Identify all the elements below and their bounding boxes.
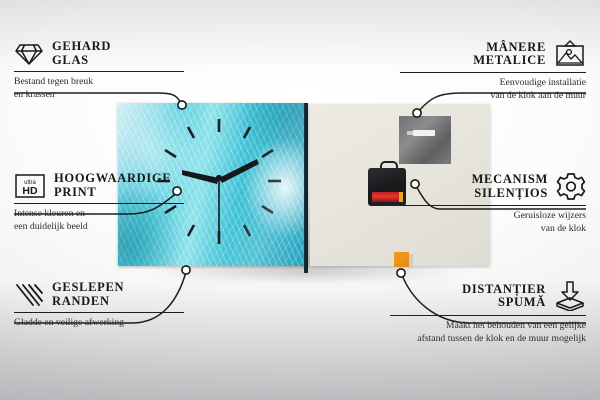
feature-title-edges: GESLEPEN RANDEN [52,281,124,308]
infographic-canvas: GEHARD GLAS Bestand tegen breuk en krass… [0,0,600,400]
beveled-edges-icon [14,282,44,308]
feature-title-print: HOOGWAARDIGE PRINT [54,172,171,199]
feature-title-handles: MÂNERE METALICE [473,41,546,68]
feature-callout-print: ultra HD HOOGWAARDIGE PRINT Intense kleu… [14,172,184,233]
metal-hanger-plate [399,116,451,164]
feature-rule-print [14,203,184,204]
feature-header-handles: MÂNERE METALICE [400,40,586,68]
feature-desc-handles: Eenvoudige installatie van de klok aan d… [400,77,586,102]
feature-rule-spacer [390,315,586,316]
wall-hanging-frame-icon [554,40,586,68]
feature-rule-handles [400,72,586,73]
foam-spacer-side [409,254,413,268]
foam-spacer-arrow-icon [554,281,586,311]
feature-callout-glass: GEHARD GLAS Bestand tegen breuk en krass… [14,40,184,101]
feature-callout-mechanism: MECANISM SILENȚIOS Geruisloze wijzers va… [400,172,586,235]
feature-callout-handles: MÂNERE METALICE Eenvoudige installatie v… [400,40,586,102]
feature-title-spacer: DISTANȚIER SPUMĂ [462,283,546,310]
gear-icon [556,172,586,201]
feature-title-mechanism: MECANISM SILENȚIOS [472,173,548,200]
feature-desc-glass: Bestand tegen breuk en krassen [14,76,184,101]
feature-header-print: ultra HD HOOGWAARDIGE PRINT [14,172,184,199]
foam-spacer-block [394,252,409,267]
feature-header-glass: GEHARD GLAS [14,40,184,67]
feature-header-edges: GESLEPEN RANDEN [14,281,184,308]
hanger-keyhole-slot [413,130,435,136]
feature-desc-edges: Gladde en veilige afwerking [14,317,184,329]
feature-desc-print: Intense kleuren en een duidelijk beeld [14,208,184,233]
feature-rule-glass [14,71,184,72]
ultra-hd-icon: ultra HD [14,173,46,199]
feature-rule-mechanism [400,205,586,206]
feature-rule-edges [14,312,184,313]
feature-callout-spacer: DISTANȚIER SPUMĂ Maakt het behouden van … [390,281,586,345]
feature-desc-spacer: Maakt het behouden van een gelijke afsta… [390,320,586,345]
feature-header-mechanism: MECANISM SILENȚIOS [400,172,586,201]
ultra-hd-icon-label-bottom: HD [22,185,38,197]
feature-header-spacer: DISTANȚIER SPUMĂ [390,281,586,311]
clock-glass-edge [304,103,308,273]
feature-desc-mechanism: Geruisloze wijzers van de klok [400,210,586,235]
diamond-icon [14,41,44,67]
feature-title-glass: GEHARD GLAS [52,40,111,67]
feature-callout-edges: GESLEPEN RANDEN Gladde en veilige afwerk… [14,281,184,330]
